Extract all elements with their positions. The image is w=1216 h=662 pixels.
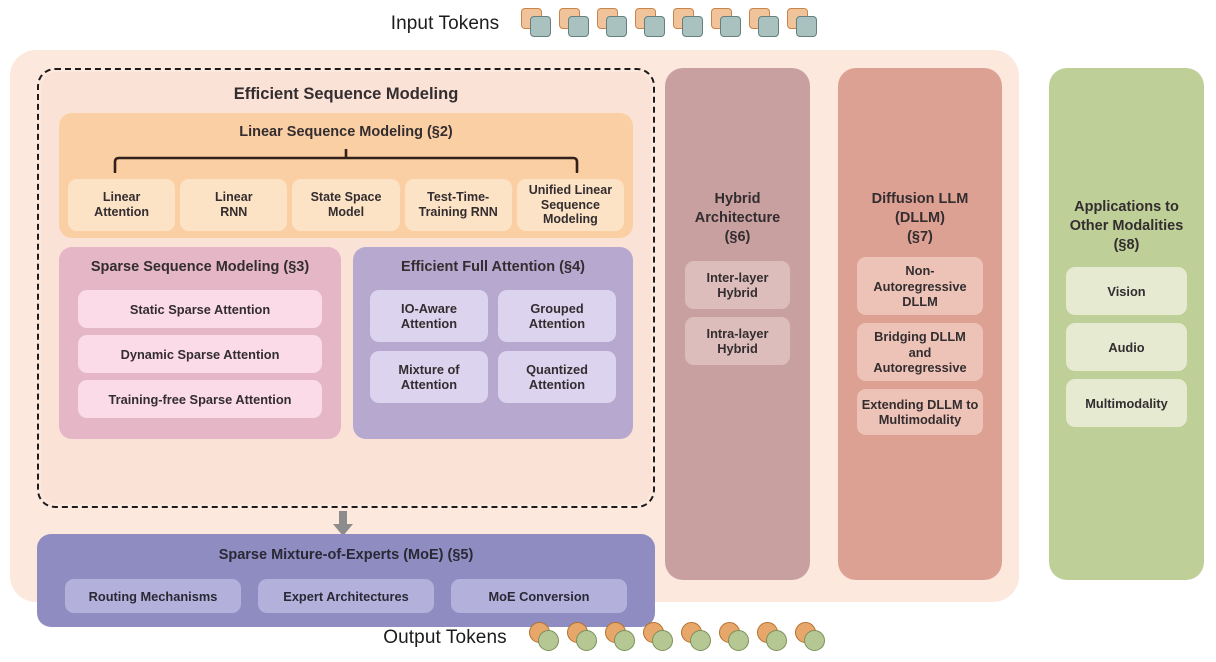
linear-sequence-modeling-box: Linear Sequence Modeling (§2) LinearAtte… — [59, 113, 633, 238]
token-front-shape — [652, 630, 673, 651]
hybrid-architecture-items: Inter-layer HybridIntra-layer Hybrid — [665, 261, 810, 365]
token-front-shape — [644, 16, 665, 37]
diffusion-llm-item: Non-AutoregressiveDLLM — [857, 257, 983, 315]
linear-sequence-modeling-item: Test-Time-Training RNN — [405, 179, 512, 231]
token-pair — [787, 8, 823, 40]
input-token-group — [521, 8, 825, 40]
sparse-sequence-modeling-item: Static Sparse Attention — [78, 290, 322, 328]
input-tokens-label: Input Tokens — [391, 13, 500, 35]
token-pair — [559, 8, 595, 40]
output-token-group — [529, 622, 833, 654]
token-front-shape — [758, 16, 779, 37]
token-pair — [795, 622, 831, 654]
applications-item: Vision — [1066, 267, 1187, 315]
token-front-shape — [766, 630, 787, 651]
sparse-sequence-modeling-box: Sparse Sequence Modeling (§3) Static Spa… — [59, 247, 341, 439]
input-tokens-row: Input Tokens — [0, 0, 1216, 48]
sparse-moe-item: Routing Mechanisms — [65, 579, 241, 613]
linear-sequence-modeling-items: LinearAttentionLinearRNNState SpaceModel… — [68, 179, 624, 231]
bracket-connector-icon — [113, 149, 579, 173]
token-front-shape — [576, 630, 597, 651]
token-pair — [605, 622, 641, 654]
token-front-shape — [530, 16, 551, 37]
efficient-full-attention-item: GroupedAttention — [498, 290, 616, 342]
diffusion-llm-items: Non-AutoregressiveDLLMBridging DLLMandAu… — [838, 257, 1002, 435]
applications-item: Audio — [1066, 323, 1187, 371]
token-pair — [749, 8, 785, 40]
token-pair — [567, 622, 603, 654]
linear-sequence-modeling-item: State SpaceModel — [292, 179, 399, 231]
sparse-sequence-modeling-items: Static Sparse AttentionDynamic Sparse At… — [78, 290, 322, 418]
efficient-full-attention-item: QuantizedAttention — [498, 351, 616, 403]
diffusion-llm-title: Diffusion LLM (DLLM) (§7) — [872, 190, 969, 247]
token-front-shape — [614, 630, 635, 651]
sparse-moe-items: Routing MechanismsExpert ArchitecturesMo… — [65, 579, 627, 613]
efficient-full-attention-items: IO-AwareAttentionGroupedAttentionMixture… — [370, 290, 616, 403]
token-pair — [529, 622, 565, 654]
token-front-shape — [568, 16, 589, 37]
hybrid-architecture-item: Inter-layer Hybrid — [685, 261, 790, 309]
sparse-sequence-modeling-title: Sparse Sequence Modeling (§3) — [59, 259, 341, 275]
sparse-sequence-modeling-item: Dynamic Sparse Attention — [78, 335, 322, 373]
token-pair — [643, 622, 679, 654]
sparse-moe-item: Expert Architectures — [258, 579, 434, 613]
hybrid-architecture-title: Hybrid Architecture (§6) — [695, 190, 780, 247]
token-front-shape — [682, 16, 703, 37]
token-pair — [521, 8, 557, 40]
sparse-sequence-modeling-item: Training-free Sparse Attention — [78, 380, 322, 418]
applications-title: Applications to Other Modalities (§8) — [1070, 198, 1184, 255]
efficient-full-attention-item: Mixture ofAttention — [370, 351, 488, 403]
efficient-full-attention-item: IO-AwareAttention — [370, 290, 488, 342]
output-tokens-label: Output Tokens — [383, 627, 506, 649]
diffusion-llm-column: Diffusion LLM (DLLM) (§7) Non-Autoregres… — [838, 68, 1002, 580]
token-pair — [673, 8, 709, 40]
diffusion-llm-item: Extending DLLM toMultimodality — [857, 389, 983, 435]
token-front-shape — [796, 16, 817, 37]
output-tokens-row: Output Tokens — [0, 614, 1216, 662]
token-front-shape — [538, 630, 559, 651]
token-front-shape — [690, 630, 711, 651]
token-pair — [757, 622, 793, 654]
applications-items: VisionAudioMultimodality — [1049, 267, 1204, 427]
hybrid-architecture-item: Intra-layer Hybrid — [685, 317, 790, 365]
token-pair — [681, 622, 717, 654]
efficient-full-attention-title: Efficient Full Attention (§4) — [353, 259, 633, 275]
linear-sequence-modeling-item: LinearAttention — [68, 179, 175, 231]
token-front-shape — [804, 630, 825, 651]
token-pair — [635, 8, 671, 40]
linear-sequence-modeling-item: Unified LinearSequenceModeling — [517, 179, 624, 231]
sparse-moe-title: Sparse Mixture-of-Experts (MoE) (§5) — [37, 547, 655, 563]
token-front-shape — [606, 16, 627, 37]
taxonomy-canvas: Efficient Sequence Modeling Linear Seque… — [10, 50, 1019, 602]
efficient-full-attention-box: Efficient Full Attention (§4) IO-AwareAt… — [353, 247, 633, 439]
token-front-shape — [720, 16, 741, 37]
sparse-moe-item: MoE Conversion — [451, 579, 627, 613]
efficient-sequence-modeling-title: Efficient Sequence Modeling — [41, 85, 651, 104]
linear-sequence-modeling-item: LinearRNN — [180, 179, 287, 231]
token-front-shape — [728, 630, 749, 651]
applications-item: Multimodality — [1066, 379, 1187, 427]
token-pair — [719, 622, 755, 654]
hybrid-architecture-column: Hybrid Architecture (§6) Inter-layer Hyb… — [665, 68, 810, 580]
diffusion-llm-item: Bridging DLLMandAutoregressive — [857, 323, 983, 381]
token-pair — [597, 8, 633, 40]
token-pair — [711, 8, 747, 40]
linear-sequence-modeling-title: Linear Sequence Modeling (§2) — [59, 124, 633, 140]
applications-column: Applications to Other Modalities (§8) Vi… — [1049, 68, 1204, 580]
